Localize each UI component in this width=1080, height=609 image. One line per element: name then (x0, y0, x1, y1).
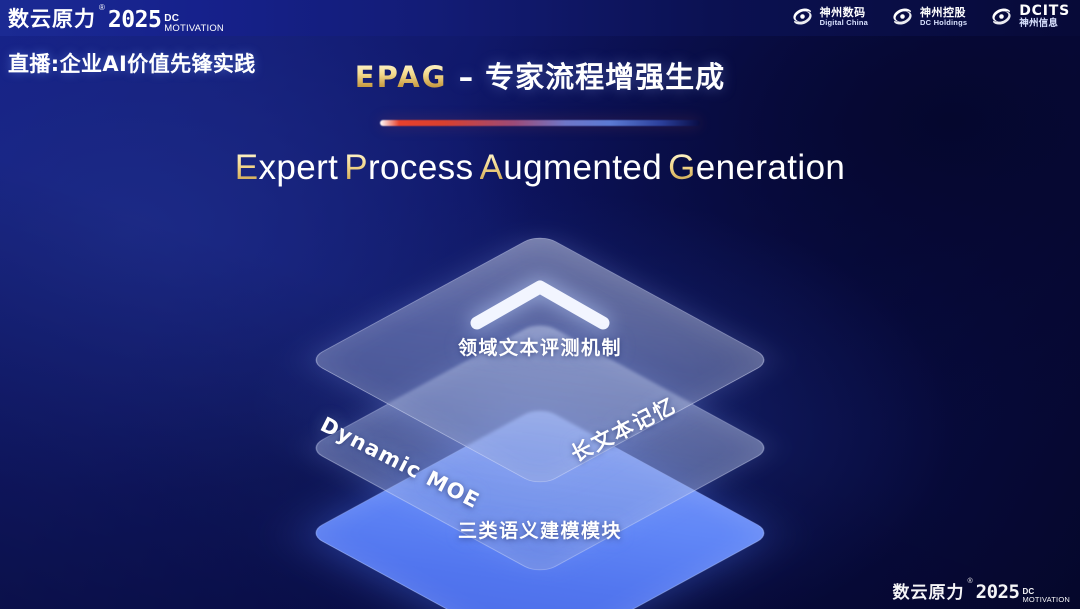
partner-name-en: Digital China (820, 19, 868, 27)
brand-dc-line2: MOTIVATION (1022, 596, 1070, 603)
subtitle-word-expert: Expert (235, 148, 339, 188)
title-dash: – (459, 60, 475, 94)
subtitle-rest-generation: eneration (696, 148, 846, 187)
partner-name-en: DCITS (1019, 4, 1070, 19)
brand-registered-mark: ® (99, 3, 105, 12)
slide-canvas: 数云原力 ® 2025 DC MOTIVATION 神州数码 Digital C… (0, 0, 1080, 609)
brand-year: 2025 (976, 581, 1020, 603)
swirl-logo-icon (989, 4, 1014, 29)
subtitle-rest-augmented: ugmented (503, 148, 662, 187)
title-divider (380, 120, 700, 126)
chevron-up-icon (465, 273, 615, 338)
swirl-logo-icon (790, 4, 815, 29)
brand-dc-motivation: DC MOTIVATION (1022, 588, 1070, 603)
brand-logo-top: 数云原力 ® 2025 DC MOTIVATION (8, 3, 224, 33)
layer-label-top: 领域文本评测机制 (260, 333, 820, 360)
partner-logo-dcits: DCITS 神州信息 (989, 4, 1070, 29)
subtitle-word-generation: Generation (668, 148, 845, 188)
partner-logo-group: 神州数码 Digital China 神州控股 DC Holdings (790, 4, 1070, 29)
swirl-logo-icon (890, 4, 915, 29)
partner-name-en: DC Holdings (920, 19, 967, 27)
subtitle-cap-a: A (480, 148, 504, 187)
brand-name-cn: 数云原力 (893, 578, 965, 603)
subtitle-word-process: Process (344, 148, 473, 188)
layer-label-bottom: 三类语义建模模块 (260, 516, 820, 543)
brand-logo-watermark: 数云原力 ® 2025 DC MOTIVATION (893, 578, 1071, 603)
page-subtitle-english: ExpertProcessAugmentedGeneration (0, 148, 1080, 188)
brand-dc-line2: MOTIVATION (164, 24, 224, 33)
partner-name-cn: 神州信息 (1019, 19, 1070, 29)
subtitle-rest-process: rocess (368, 148, 474, 187)
title-acronym: EPAG (355, 60, 448, 94)
partner-name-cn: 神州控股 (920, 7, 967, 19)
subtitle-cap-e: E (235, 148, 259, 187)
partner-logo-text: 神州数码 Digital China (820, 7, 868, 27)
subtitle-cap-g: G (668, 148, 696, 187)
brand-dc-motivation: DC MOTIVATION (164, 14, 224, 33)
page-title: EPAG – 专家流程增强生成 (0, 54, 1080, 96)
brand-registered-mark: ® (968, 578, 973, 585)
subtitle-cap-p: P (344, 148, 368, 187)
title-chinese: 专家流程增强生成 (485, 60, 725, 94)
brand-year: 2025 (108, 7, 161, 33)
subtitle-word-augmented: Augmented (480, 148, 663, 188)
partner-logo-digital-china: 神州数码 Digital China (790, 4, 868, 29)
brand-name-cn: 数云原力 (8, 3, 96, 33)
partner-logo-text: DCITS 神州信息 (1019, 4, 1070, 29)
partner-logo-text: 神州控股 DC Holdings (920, 7, 967, 27)
layered-architecture-diagram: 领域文本评测机制 Dynamic MOE 长文本记忆 三类语义建模模块 (260, 233, 820, 578)
partner-logo-dc-holdings: 神州控股 DC Holdings (890, 4, 967, 29)
subtitle-rest-expert: xpert (258, 148, 338, 187)
partner-name-cn: 神州数码 (820, 7, 868, 19)
